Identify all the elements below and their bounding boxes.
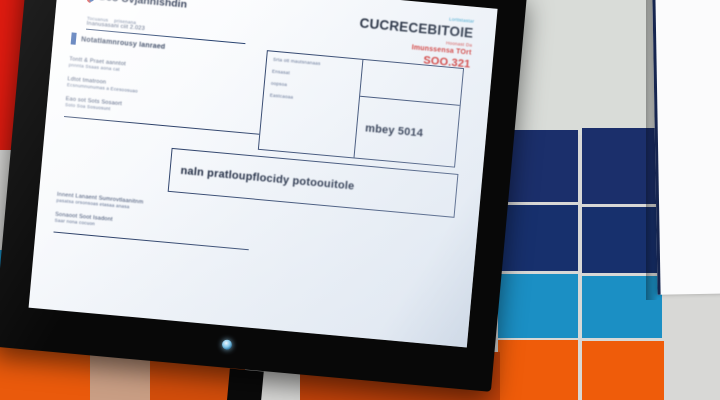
- table-highlight-value: mbey 5014: [365, 122, 424, 139]
- highlight-box-text: naln pratloupflocidy potoouitole: [180, 165, 355, 193]
- logo-text: Geo Uvjannishdin: [98, 0, 188, 10]
- document-footer: Innent Lanaent Sumrovtlaanitnm pasatsa o…: [53, 192, 257, 259]
- table-cell: oopsoa: [271, 81, 354, 94]
- table-cell: Ensasat: [272, 69, 355, 82]
- bg-panel-orange-1: [498, 340, 578, 400]
- section-accent-bar: [71, 32, 77, 44]
- bg-white-board: [652, 0, 720, 295]
- table-cell: Eastcaoaa: [270, 93, 353, 106]
- monitor-stand: [226, 369, 263, 400]
- table-cell: Srta ott mautsnanaas: [273, 57, 356, 70]
- bg-panel-navy-3: [500, 205, 578, 271]
- monitor-screen[interactable]: Geo Uvjannishdin Lorttstastar CUCRECEBIT…: [29, 0, 498, 347]
- document-page: Geo Uvjannishdin Lorttstastar CUCRECEBIT…: [29, 0, 498, 347]
- screenshot-scene: Geo Uvjannishdin Lorttstastar CUCRECEBIT…: [0, 0, 720, 400]
- computer-monitor: Geo Uvjannishdin Lorttstastar CUCRECEBIT…: [0, 0, 527, 392]
- logo-mark-icon: [86, 0, 95, 3]
- left-column: Tontt & Praet aanntot pnnnta Ssaas aona …: [63, 56, 258, 142]
- data-table: Srta ott mautsnanaas Ensasat oopsoa East…: [258, 50, 464, 168]
- bg-panel-orange-2: [582, 341, 664, 400]
- bg-panel-lightblue-1: [498, 274, 578, 338]
- table-row: mbey 5014: [355, 97, 460, 167]
- company-logo: Geo Uvjannishdin: [86, 0, 187, 12]
- table-right-column: mbey 5014: [355, 60, 463, 167]
- table-left-column: Srta ott mautsnanaas Ensasat oopsoa East…: [259, 51, 363, 157]
